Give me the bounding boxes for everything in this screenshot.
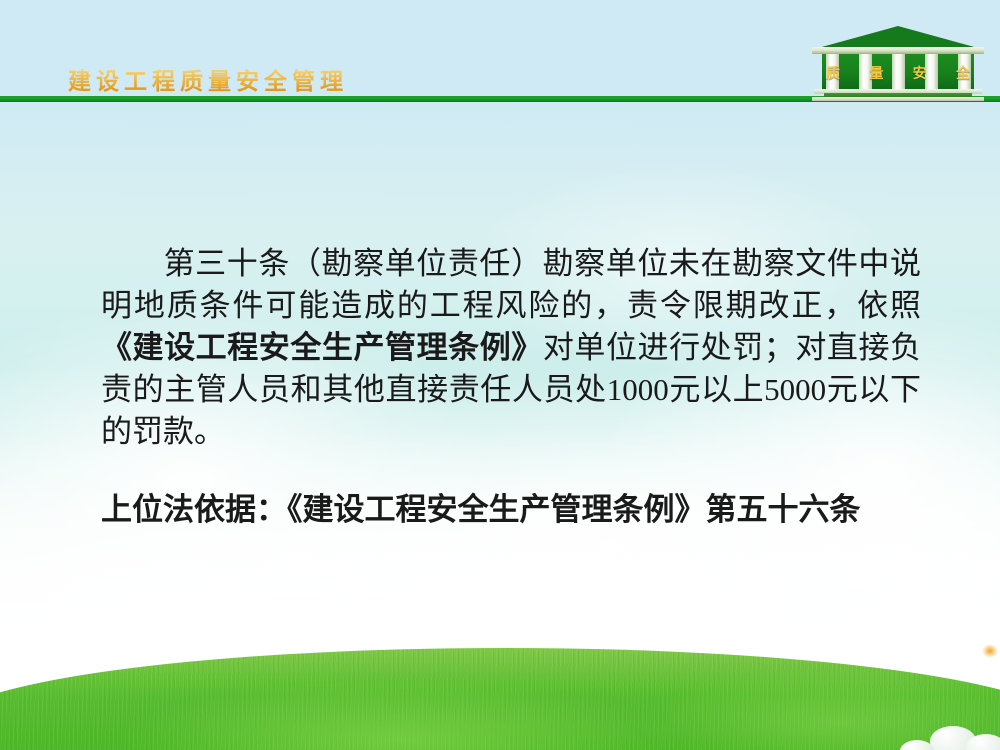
logo-char-2: 量 xyxy=(869,63,883,83)
legal-basis-value: 《建设工程安全生产管理条例》第五十六条 xyxy=(287,492,861,527)
logo-cornice xyxy=(812,47,984,54)
logo-base-step xyxy=(812,97,984,101)
quality-safety-building-logo: 质 量 安 全 xyxy=(812,26,984,100)
body-paragraph-primary: 第三十条（勘察单位责任）勘察单位未在勘察文件中说明地质条件可能造成的工程风险的，… xyxy=(101,243,921,453)
body-segment-regulation-title: 《建设工程安全生产管理条例》 xyxy=(101,330,543,365)
legal-basis-label: 上位法依据： xyxy=(101,492,287,527)
logo-char-3: 安 xyxy=(913,63,927,83)
flower-cluster-icon xyxy=(982,644,998,658)
body-paragraph-legal-basis: 上位法依据：《建设工程安全生产管理条例》第五十六条 xyxy=(101,489,921,531)
logo-char-4: 全 xyxy=(956,63,970,83)
slide-header-title: 建设工程质量安全管理 xyxy=(68,62,348,96)
logo-characters: 质 量 安 全 xyxy=(826,63,970,83)
logo-roof-pediment xyxy=(818,26,978,48)
body-segment-1: 第三十条（勘察单位责任）勘察单位未在勘察文件中说明地质条件可能造成的工程风险的，… xyxy=(101,246,921,323)
slide-canvas: 建设工程质量安全管理 质 量 安 全 第三十条（勘察单位责任）勘察单位未在勘察文… xyxy=(0,0,1000,750)
grass-field xyxy=(0,620,1000,750)
logo-char-1: 质 xyxy=(826,63,840,83)
